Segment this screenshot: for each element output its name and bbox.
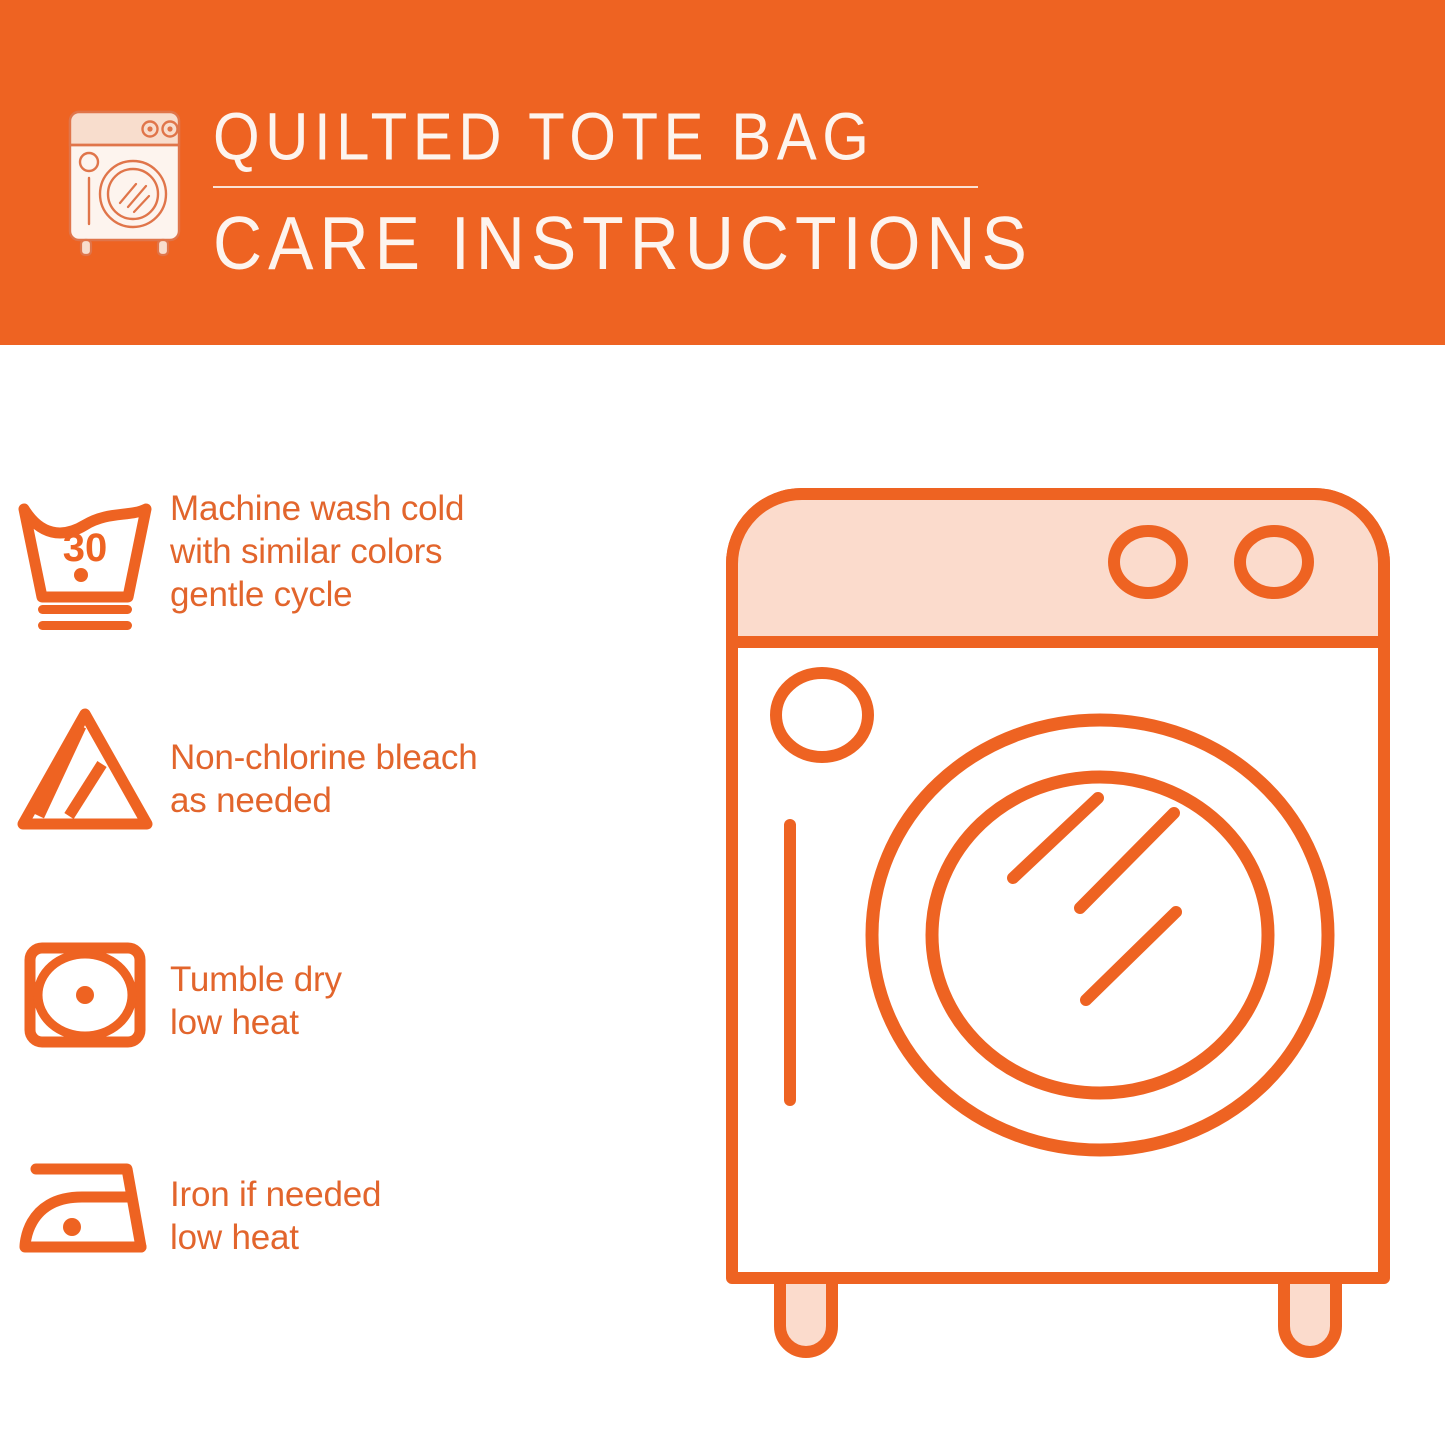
care-text-line: Tumble dry [170, 958, 342, 1001]
wash-temperature-label: 30 [63, 526, 108, 570]
care-text-line: with similar colors [170, 530, 464, 573]
care-text-line: as needed [170, 779, 478, 822]
header-band: QUILTED TOTE BAG CARE INSTRUCTIONS [0, 0, 1445, 345]
washer-leg-right [1284, 1278, 1336, 1352]
care-text-line: low heat [170, 1216, 381, 1259]
washer-leg-left [780, 1278, 832, 1352]
tumble-dry-low-icon [0, 920, 170, 1070]
care-item-bleach-text: Non-chlorine bleach as needed [170, 700, 478, 822]
care-text-line: gentle cycle [170, 573, 464, 616]
care-item-iron-text: Iron if needed low heat [170, 1135, 381, 1259]
care-text-line: low heat [170, 1001, 342, 1044]
washing-machine-illustration [718, 480, 1398, 1370]
care-instruction-list: 30 Machine wash cold with similar colors… [0, 345, 700, 1445]
care-item-bleach: Non-chlorine bleach as needed [0, 700, 680, 850]
header-title-block: QUILTED TOTE BAG CARE INSTRUCTIONS [213, 98, 1003, 278]
title-divider [213, 186, 978, 188]
care-item-tumble-dry: Tumble dry low heat [0, 920, 680, 1070]
care-text-line: Machine wash cold [170, 487, 464, 530]
care-item-machine-wash: 30 Machine wash cold with similar colors… [0, 485, 680, 635]
iron-low-heat-icon [0, 1135, 170, 1285]
non-chlorine-bleach-icon [0, 700, 170, 850]
page-subtitle: CARE INSTRUCTIONS [213, 202, 1003, 286]
care-item-tumble-dry-text: Tumble dry low heat [170, 920, 342, 1044]
care-item-iron: Iron if needed low heat [0, 1135, 680, 1285]
machine-wash-30-gentle-icon: 30 [0, 485, 170, 635]
washer-control-panel [732, 494, 1384, 642]
care-item-machine-wash-text: Machine wash cold with similar colors ge… [170, 485, 464, 616]
page-title: QUILTED TOTE BAG [213, 98, 1003, 176]
care-text-line: Non-chlorine bleach [170, 736, 478, 779]
care-text-line: Iron if needed [170, 1173, 381, 1216]
washing-machine-icon [62, 100, 187, 260]
